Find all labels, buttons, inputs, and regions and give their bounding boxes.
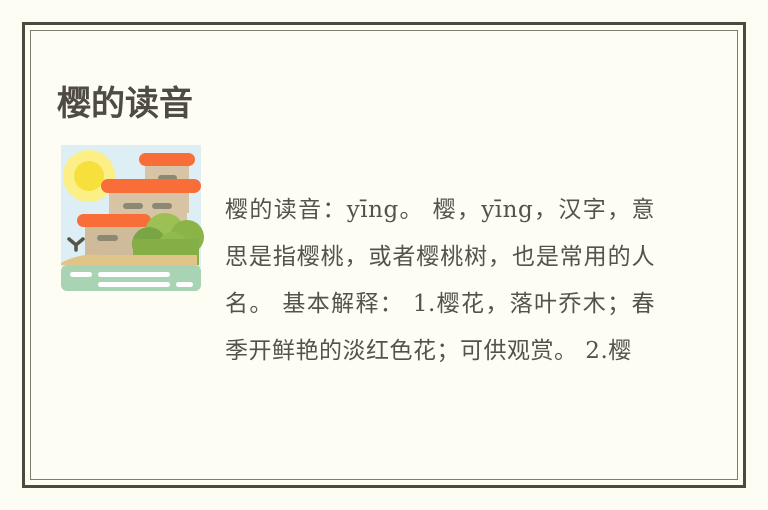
article-illustration bbox=[57, 143, 205, 293]
page-content: 樱的读音 bbox=[30, 30, 738, 480]
page-title: 樱的读音 bbox=[57, 83, 193, 125]
article-body: 樱的读音：yīng。 樱，yīng，汉字，意思是指樱桃，或者樱桃树，也是常用的人… bbox=[225, 187, 655, 375]
document-page: 樱的读音 bbox=[0, 0, 768, 510]
